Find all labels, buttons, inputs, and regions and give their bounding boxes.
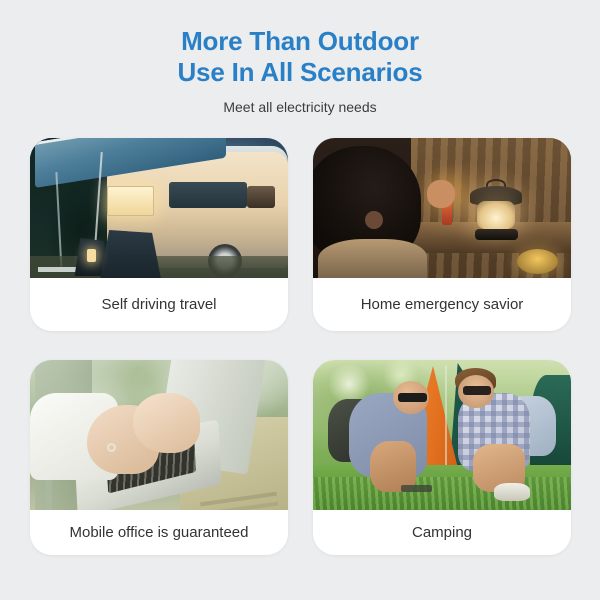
scenario-card-label: Self driving travel xyxy=(30,278,288,331)
caravan-icon xyxy=(30,138,288,278)
tent-icon xyxy=(313,360,571,510)
scenario-card-label: Mobile office is guaranteed xyxy=(30,510,288,555)
page-header: More Than Outdoor Use In All Scenarios M… xyxy=(0,0,600,115)
scenario-card-label: Home emergency savior xyxy=(313,278,571,331)
page-subtitle: Meet all electricity needs xyxy=(0,99,600,115)
scenario-card-label: Camping xyxy=(313,510,571,555)
page-title-line-1: More Than Outdoor xyxy=(181,26,419,56)
laptop-icon xyxy=(30,360,288,510)
scenario-card-grid: Self driving travel xyxy=(30,138,571,555)
scenario-card-camping[interactable]: Camping xyxy=(313,360,571,555)
scenario-card-self-driving-travel[interactable]: Self driving travel xyxy=(30,138,288,331)
scenario-card-mobile-office[interactable]: Mobile office is guaranteed xyxy=(30,360,288,555)
lantern-icon xyxy=(313,138,571,278)
infographic-page: More Than Outdoor Use In All Scenarios M… xyxy=(0,0,600,600)
page-title-line-2: Use In All Scenarios xyxy=(0,57,600,88)
scenario-card-home-emergency-savior[interactable]: Home emergency savior xyxy=(313,138,571,331)
page-title: More Than Outdoor Use In All Scenarios xyxy=(0,26,600,87)
